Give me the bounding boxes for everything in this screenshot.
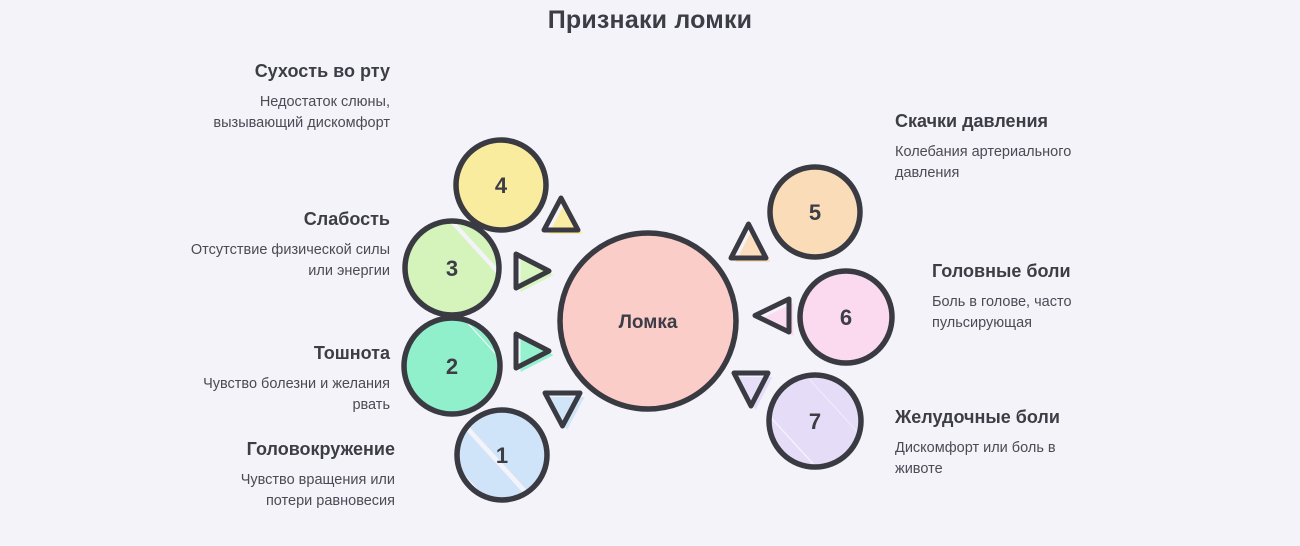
symptom-desc-6: Боль в голове, часто пульсирующая <box>932 292 1132 333</box>
arrow-marker-7 <box>734 373 773 410</box>
infographic-canvas: Признаки ломки 1234567 Ломка Головокруже… <box>0 0 1300 546</box>
symptom-title-5: Скачки давления <box>895 110 1095 133</box>
symptom-label-6: Головные болиБоль в голове, часто пульси… <box>932 260 1132 333</box>
symptom-title-2: Тошнота <box>190 342 390 365</box>
symptom-desc-1: Чувство вращения или потери равновесия <box>195 470 395 511</box>
symptom-label-4: Сухость во ртуНедостаток слюны, вызывающ… <box>190 60 390 133</box>
symptom-label-3: СлабостьОтсутствие физической силы или э… <box>190 208 390 281</box>
arrow-marker-5 <box>731 224 771 262</box>
symptom-desc-7: Дискомфорт или боль в животе <box>895 438 1095 479</box>
node-number-2: 2 <box>446 354 458 379</box>
symptom-title-4: Сухость во рту <box>190 60 390 83</box>
symptom-label-2: ТошнотаЧувство болезни и желания рвать <box>190 342 390 415</box>
node-number-6: 6 <box>840 305 852 330</box>
symptom-label-5: Скачки давленияКолебания артериального д… <box>895 110 1095 183</box>
symptom-title-3: Слабость <box>190 208 390 231</box>
symptom-desc-3: Отсутствие физической силы или энергии <box>190 240 390 281</box>
arrow-marker-2 <box>516 334 554 372</box>
symptom-label-1: ГоловокружениеЧувство вращения или потер… <box>195 438 395 511</box>
arrow-marker-3 <box>516 254 554 292</box>
symptom-title-6: Головные боли <box>932 260 1132 283</box>
arrow-marker-4 <box>544 198 583 234</box>
symptom-title-7: Желудочные боли <box>895 406 1095 429</box>
node-number-1: 1 <box>496 443 508 468</box>
symptom-desc-5: Колебания артериального давления <box>895 142 1095 183</box>
node-number-4: 4 <box>495 173 508 198</box>
symptom-node-4[interactable]: 4 <box>378 128 627 243</box>
center-label: Ломка <box>619 312 678 333</box>
symptom-title-1: Головокружение <box>195 438 395 461</box>
node-number-7: 7 <box>809 409 821 434</box>
symptom-node-1[interactable]: 1 <box>383 397 626 512</box>
arrow-marker-1 <box>545 393 585 430</box>
symptom-label-7: Желудочные болиДискомфорт или боль в жив… <box>895 406 1095 479</box>
symptom-desc-2: Чувство болезни и желания рвать <box>190 374 390 415</box>
symptom-desc-4: Недостаток слюны, вызывающий дискомфорт <box>190 92 390 133</box>
node-number-5: 5 <box>809 200 821 225</box>
node-number-3: 3 <box>446 256 458 281</box>
arrow-marker-6 <box>755 299 794 336</box>
